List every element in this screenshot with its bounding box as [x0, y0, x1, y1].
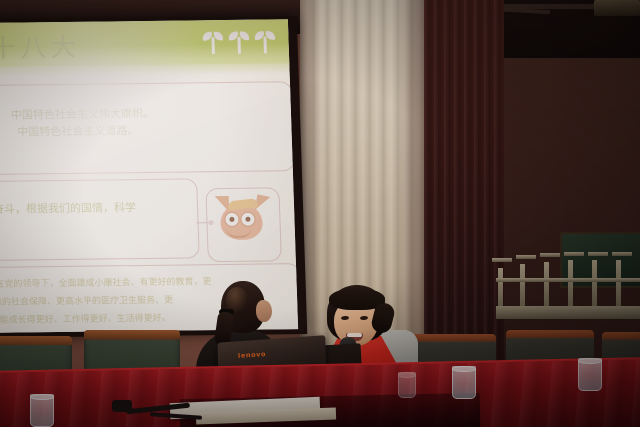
- rack-post: [616, 260, 621, 312]
- rack-top-cap: [516, 255, 536, 259]
- rack-base: [496, 306, 640, 319]
- rack-post: [520, 264, 525, 312]
- sprout-icon: [203, 30, 223, 54]
- slide-block-3-line-3: 子们能成长得更好、工作得更好、生活得更好。: [0, 313, 171, 329]
- rack-post: [544, 262, 549, 312]
- rack-top-cap: [588, 252, 608, 256]
- water-cup[interactable]: [452, 366, 476, 399]
- projection-screen-frame: 十八大 中国特色社会主义伟大旗帜。 中国特色社会主义道路。: [0, 16, 307, 338]
- sprout-icon: [229, 30, 249, 54]
- girl-teeth: [347, 333, 362, 337]
- rack-post: [592, 260, 597, 312]
- rack-top-cap: [492, 258, 512, 262]
- slide-block-1-line-2: 中国特色社会主义道路。: [17, 122, 139, 141]
- sprout-icon-group: [203, 29, 275, 54]
- slide-block-3-line-2: 更可靠的社会保障、更高水平的医疗卫生服务、更: [0, 295, 173, 311]
- rack-top-cap: [564, 252, 584, 256]
- slide-title: 十八大: [0, 28, 81, 65]
- water-cup[interactable]: [578, 358, 602, 391]
- slide-block-2-line-1: 力奋斗，根据我们的国情，科学: [0, 199, 136, 218]
- water-cup[interactable]: [30, 394, 54, 427]
- rack-top-cap: [612, 252, 632, 256]
- cable-connector: [112, 400, 132, 412]
- presenter-cheek: [256, 300, 272, 322]
- photo-scene: 十八大 中国特色社会主义伟大旗帜。 中国特色社会主义道路。: [0, 0, 640, 427]
- fox-mascot-icon: [212, 195, 272, 252]
- rack-crossbar: [496, 278, 640, 282]
- sprout-icon: [255, 29, 275, 53]
- slide-block-3-line-1: ，在党的领导下，全面建成小康社会、有更好的教育，更: [0, 276, 212, 293]
- rack-post: [568, 260, 573, 312]
- slide-block-1-line-1: 中国特色社会主义伟大旗帜。: [11, 105, 155, 124]
- slide-block-2: [0, 178, 200, 261]
- speaker-box: [594, 0, 640, 16]
- water-cup[interactable]: [398, 372, 416, 398]
- rack-top-cap: [540, 253, 560, 257]
- stacked-chair-rack: [496, 258, 640, 328]
